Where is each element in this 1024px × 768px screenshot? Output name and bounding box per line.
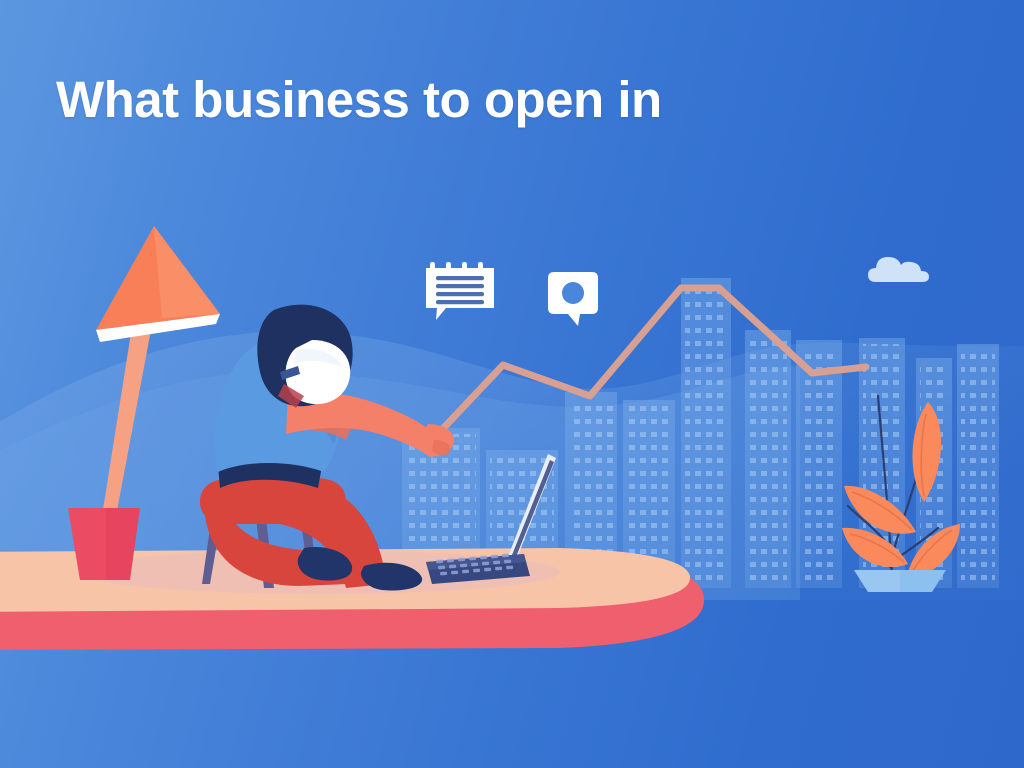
page-title: What business to open in [56, 72, 956, 128]
lamp-stem [102, 314, 154, 516]
laptop[interactable] [406, 450, 576, 595]
illustration-canvas: What business to open in [0, 0, 1024, 768]
